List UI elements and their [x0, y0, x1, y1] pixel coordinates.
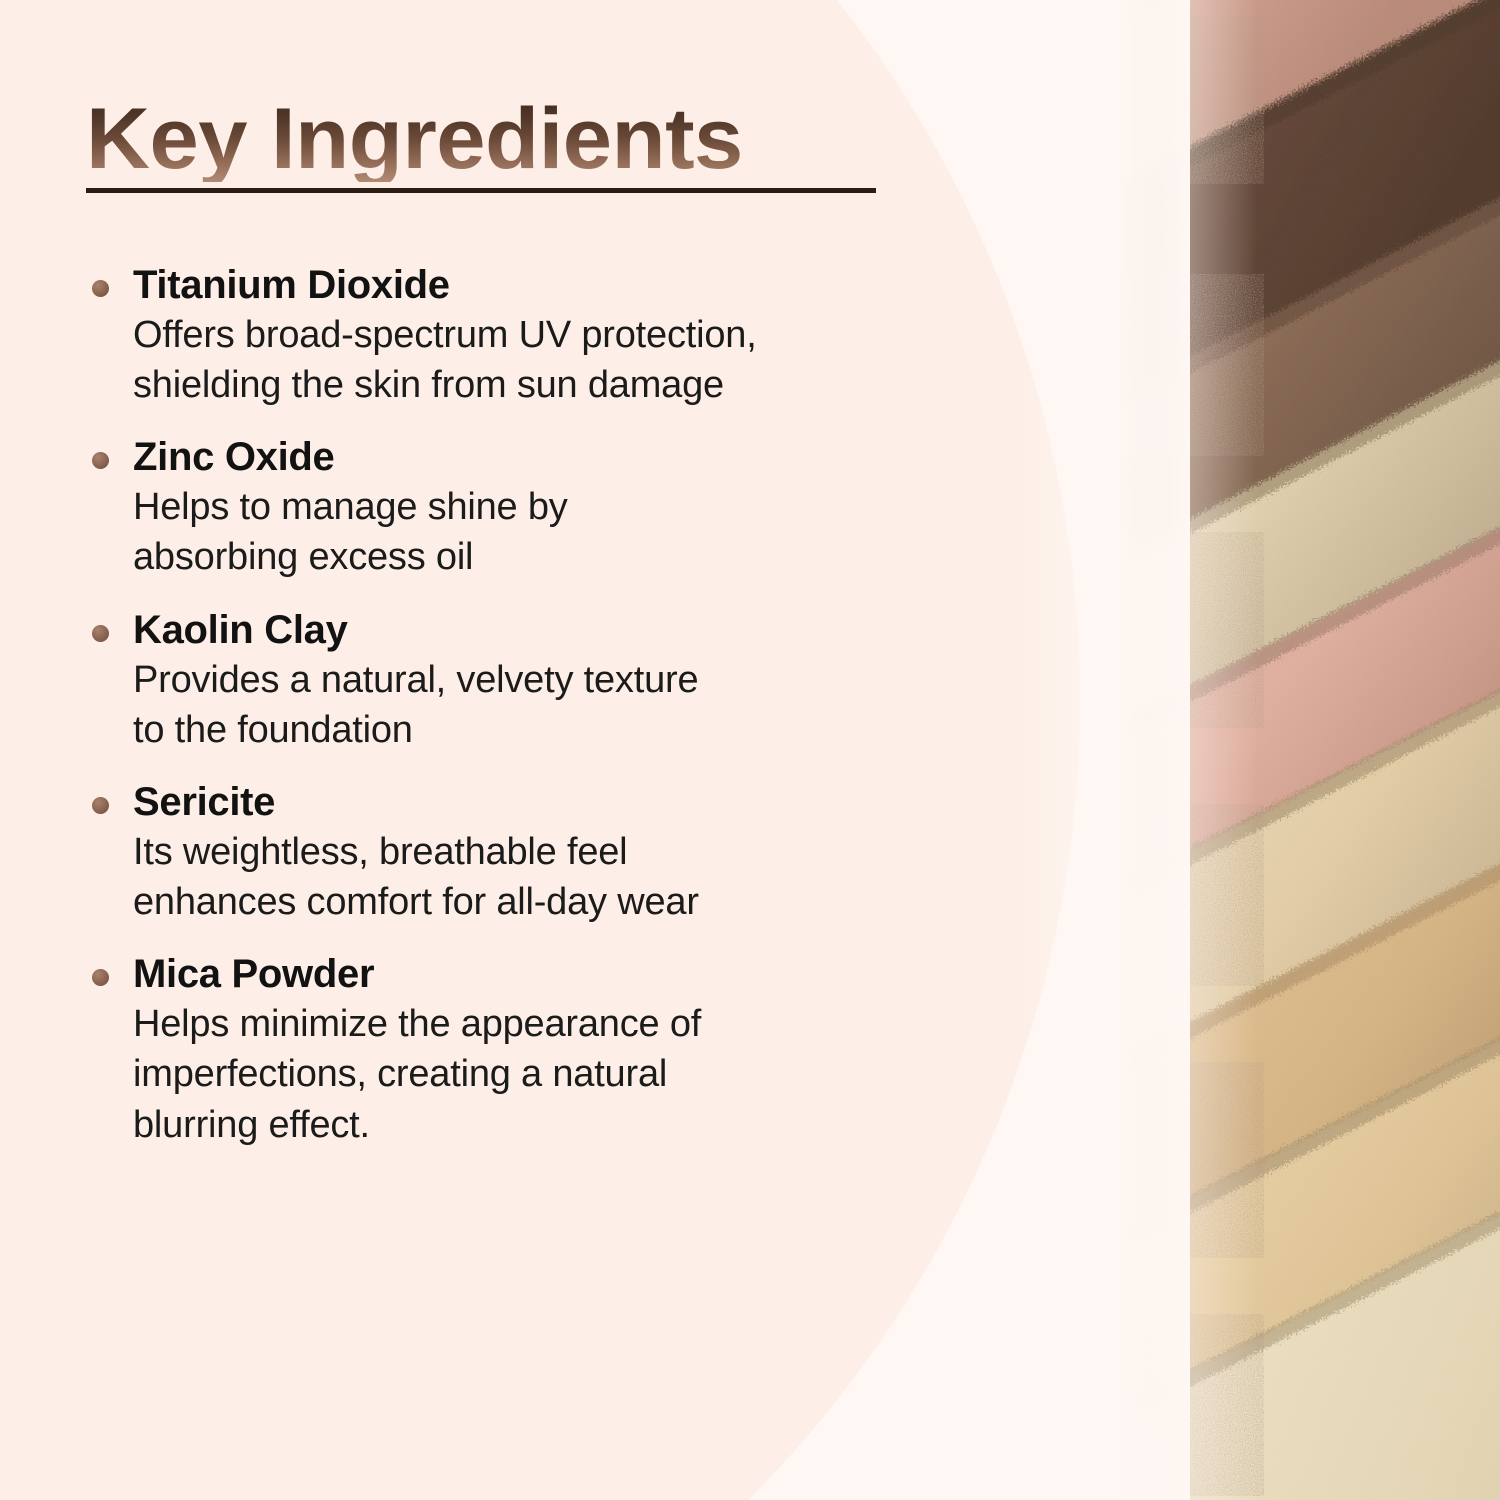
list-item: Zinc Oxide Helps to manage shine by abso…	[92, 434, 972, 582]
ingredient-name: Zinc Oxide	[133, 434, 972, 480]
bullet-dot-icon	[92, 797, 109, 814]
ingredient-description: Offers broad-spectrum UV protection, shi…	[133, 310, 972, 410]
ingredient-list: Titanium Dioxide Offers broad-spectrum U…	[92, 262, 972, 1174]
ingredient-description: Helps to manage shine by absorbing exces…	[133, 482, 972, 582]
background-soft-band	[1020, 0, 1190, 1500]
list-item: Mica Powder Helps minimize the appearanc…	[92, 951, 972, 1149]
ingredient-name: Sericite	[133, 779, 972, 825]
ingredient-description: Its weightless, breathable feel enhances…	[133, 827, 972, 927]
title-underline	[86, 188, 876, 193]
list-item: Sericite Its weightless, breathable feel…	[92, 779, 972, 927]
ingredient-name: Kaolin Clay	[133, 607, 972, 653]
list-item: Kaolin Clay Provides a natural, velvety …	[92, 607, 972, 755]
key-ingredients-panel: Key Ingredients Titanium Dioxide Offers …	[0, 0, 1500, 1500]
list-item: Titanium Dioxide Offers broad-spectrum U…	[92, 262, 972, 410]
ingredient-description: Provides a natural, velvety texture to t…	[133, 655, 972, 755]
ingredient-name: Titanium Dioxide	[133, 262, 972, 308]
bullet-dot-icon	[92, 452, 109, 469]
ingredient-name: Mica Powder	[133, 951, 972, 997]
page-title: Key Ingredients	[86, 96, 931, 182]
page-title-block: Key Ingredients	[86, 96, 906, 182]
bullet-dot-icon	[92, 280, 109, 297]
bullet-dot-icon	[92, 969, 109, 986]
bullet-dot-icon	[92, 625, 109, 642]
ingredient-description: Helps minimize the appearance of imperfe…	[133, 999, 972, 1149]
